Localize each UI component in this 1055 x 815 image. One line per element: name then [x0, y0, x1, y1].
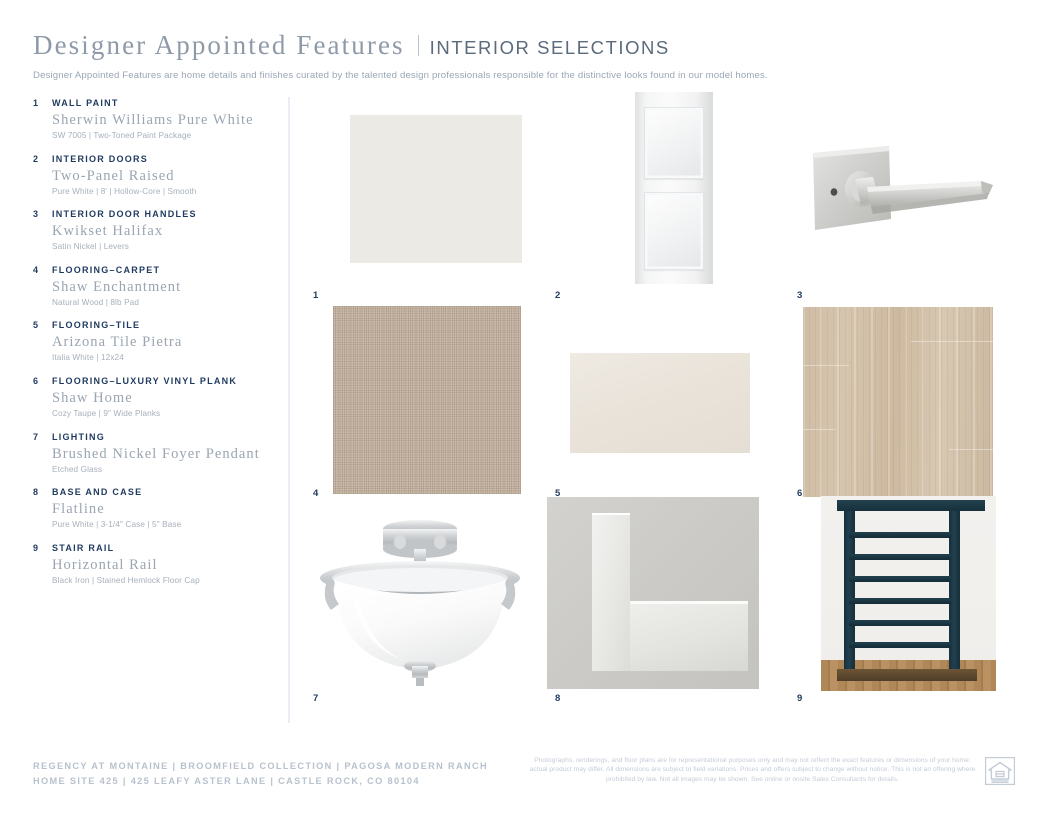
page-footer: REGENCY AT MONTAINE | BROOMFIELD COLLECT…	[0, 748, 1055, 815]
list-item: 7 LIGHTING Brushed Nickel Foyer Pendant …	[33, 431, 273, 475]
selection-header: 6 FLOORING–LUXURY VINYL PLANK	[33, 375, 273, 388]
selection-category: FLOORING–CARPET	[52, 264, 160, 277]
selection-header: 4 FLOORING–CARPET	[33, 264, 273, 277]
plank-seam	[803, 365, 849, 366]
selection-product: Horizontal Rail	[52, 557, 273, 574]
selection-header: 9 STAIR RAIL	[33, 542, 273, 555]
list-item: 2 INTERIOR DOORS Two-Panel Raised Pure W…	[33, 153, 273, 197]
selection-product: Shaw Enchantment	[52, 279, 273, 296]
image-number: 7	[313, 693, 319, 704]
column-divider	[288, 97, 290, 723]
rail-horizontal-bar	[849, 576, 951, 582]
grid-cell-base-case: 8	[547, 496, 777, 696]
selection-product: Arizona Tile Pietra	[52, 334, 273, 351]
grid-row: 1 2	[305, 93, 1017, 293]
selection-number: 4	[33, 264, 52, 277]
selection-product: Flatline	[52, 501, 273, 518]
grid-cell-lvp: 6	[789, 293, 1017, 493]
selection-category: INTERIOR DOORS	[52, 153, 148, 166]
selection-number: 7	[33, 431, 52, 444]
selection-detail: Etched Glass	[52, 464, 273, 475]
selection-detail: Pure White | 3-1/4" Case | 5" Base	[52, 519, 273, 530]
selection-detail: Italia White | 12x24	[52, 352, 273, 363]
rail-horizontal-bar	[849, 642, 951, 648]
two-panel-door-image	[635, 92, 713, 284]
selection-category: FLOORING–TILE	[52, 319, 140, 332]
selection-body: Shaw Enchantment Natural Wood | 8lb Pad	[33, 279, 273, 308]
list-item: 4 FLOORING–CARPET Shaw Enchantment Natur…	[33, 264, 273, 308]
selection-body: Flatline Pure White | 3-1/4" Case | 5" B…	[33, 501, 273, 530]
lever-handle-icon	[799, 135, 1007, 245]
carpet-swatch-image	[333, 306, 521, 494]
plank-seam	[803, 429, 835, 430]
selection-body: Brushed Nickel Foyer Pendant Etched Glas…	[33, 446, 273, 475]
equal-housing-opportunity-icon	[985, 757, 1015, 785]
list-item: 1 WALL PAINT Sherwin Williams Pure White…	[33, 97, 273, 141]
selection-product: Brushed Nickel Foyer Pendant	[52, 446, 273, 463]
title-row: Designer Appointed Features INTERIOR SEL…	[33, 30, 1023, 61]
tile-swatch-image	[570, 353, 750, 453]
luxury-vinyl-plank-swatch-image	[803, 307, 993, 497]
selection-header: 2 INTERIOR DOORS	[33, 153, 273, 166]
pendant-light-icon	[313, 502, 527, 692]
selection-header: 3 INTERIOR DOOR HANDLES	[33, 208, 273, 221]
selection-body: Two-Panel Raised Pure White | 8' | Hollo…	[33, 168, 273, 197]
selection-header: 8 BASE AND CASE	[33, 486, 273, 499]
selection-detail: SW 7005 | Two-Toned Paint Package	[52, 130, 273, 141]
grid-cell-carpet: 4	[305, 293, 535, 493]
selection-header: 5 FLOORING–TILE	[33, 319, 273, 332]
grid-cell-tile: 5	[547, 293, 777, 493]
image-number: 9	[797, 693, 803, 704]
selection-header: 1 WALL PAINT	[33, 97, 273, 110]
door-lever-handle-image	[799, 135, 1007, 245]
selection-number: 9	[33, 542, 52, 555]
title-separator	[418, 35, 419, 56]
page-header: Designer Appointed Features INTERIOR SEL…	[33, 30, 1023, 81]
selection-image-grid: 1 2	[305, 93, 1017, 696]
list-item: 5 FLOORING–TILE Arizona Tile Pietra Ital…	[33, 319, 273, 363]
base-and-case-trim-image	[547, 497, 759, 689]
image-number: 8	[555, 693, 561, 704]
selection-category: FLOORING–LUXURY VINYL PLANK	[52, 375, 237, 388]
selection-product: Two-Panel Raised	[52, 168, 273, 185]
selection-detail: Natural Wood | 8lb Pad	[52, 297, 273, 308]
baseboard-profile	[630, 601, 748, 671]
selection-category: STAIR RAIL	[52, 542, 114, 555]
rail-horizontal-bar	[849, 532, 951, 538]
casing-profile	[592, 513, 630, 671]
selection-number: 6	[33, 375, 52, 388]
list-item: 6 FLOORING–LUXURY VINYL PLANK Shaw Home …	[33, 375, 273, 419]
legal-disclaimer: Photographs, renderings, and floor plans…	[525, 756, 980, 784]
plank-seam	[911, 341, 993, 342]
list-item: 9 STAIR RAIL Horizontal Rail Black Iron …	[33, 542, 273, 586]
selection-number: 8	[33, 486, 52, 499]
selection-body: Kwikset Halifax Satin Nickel | Levers	[33, 223, 273, 252]
paint-swatch-image	[350, 115, 522, 263]
eho-logo-icon	[985, 757, 1015, 785]
selection-category: WALL PAINT	[52, 97, 119, 110]
selection-product: Sherwin Williams Pure White	[52, 112, 273, 129]
interior-selections-sheet: Designer Appointed Features INTERIOR SEL…	[0, 0, 1055, 815]
list-item: 8 BASE AND CASE Flatline Pure White | 3-…	[33, 486, 273, 530]
grid-cell-door: 2	[547, 93, 777, 293]
grid-cell-handle: 3	[789, 93, 1017, 293]
community-info: REGENCY AT MONTAINE | BROOMFIELD COLLECT…	[33, 759, 488, 789]
community-line-2: HOME SITE 425 | 425 LEAFY ASTER LANE | C…	[33, 774, 488, 789]
rail-floor-cap	[837, 669, 977, 681]
rail-top-cap	[837, 500, 985, 511]
selection-body: Sherwin Williams Pure White SW 7005 | Tw…	[33, 112, 273, 141]
page-title: Designer Appointed Features	[33, 30, 405, 61]
plank-seam	[949, 449, 993, 450]
rail-horizontal-bar	[849, 554, 951, 560]
selection-product: Kwikset Halifax	[52, 223, 273, 240]
selection-number: 5	[33, 319, 52, 332]
selection-number: 3	[33, 208, 52, 221]
foyer-pendant-light-image	[313, 502, 527, 692]
selection-category: INTERIOR DOOR HANDLES	[52, 208, 197, 221]
door-panel-top	[644, 107, 704, 179]
selection-detail: Satin Nickel | Levers	[52, 241, 273, 252]
selection-body: Horizontal Rail Black Iron | Stained Hem…	[33, 557, 273, 586]
selection-body: Shaw Home Cozy Taupe | 9" Wide Planks	[33, 390, 273, 419]
selection-detail: Cozy Taupe | 9" Wide Planks	[52, 408, 273, 419]
grid-row: 7 8	[305, 496, 1017, 696]
grid-row: 4 5 6	[305, 293, 1017, 496]
grid-cell-stair-rail: 9	[789, 496, 1017, 696]
page-subtitle-heading: INTERIOR SELECTIONS	[430, 37, 670, 59]
page-description: Designer Appointed Features are home det…	[33, 70, 1023, 81]
selections-list: 1 WALL PAINT Sherwin Williams Pure White…	[33, 97, 273, 597]
selection-category: BASE AND CASE	[52, 486, 142, 499]
selection-number: 1	[33, 97, 52, 110]
grid-cell-paint: 1	[305, 93, 535, 293]
selection-number: 2	[33, 153, 52, 166]
grid-cell-lighting: 7	[305, 496, 535, 696]
horizontal-stair-rail-image	[821, 496, 996, 691]
selection-header: 7 LIGHTING	[33, 431, 273, 444]
selection-category: LIGHTING	[52, 431, 105, 444]
list-item: 3 INTERIOR DOOR HANDLES Kwikset Halifax …	[33, 208, 273, 252]
selection-detail: Pure White | 8' | Hollow-Core | Smooth	[52, 186, 273, 197]
door-panel-bottom	[644, 192, 704, 270]
rail-horizontal-bar	[849, 598, 951, 604]
community-line-1: REGENCY AT MONTAINE | BROOMFIELD COLLECT…	[33, 759, 488, 774]
selection-product: Shaw Home	[52, 390, 273, 407]
selection-body: Arizona Tile Pietra Italia White | 12x24	[33, 334, 273, 363]
rail-horizontal-bar	[849, 620, 951, 626]
selection-detail: Black Iron | Stained Hemlock Floor Cap	[52, 575, 273, 586]
